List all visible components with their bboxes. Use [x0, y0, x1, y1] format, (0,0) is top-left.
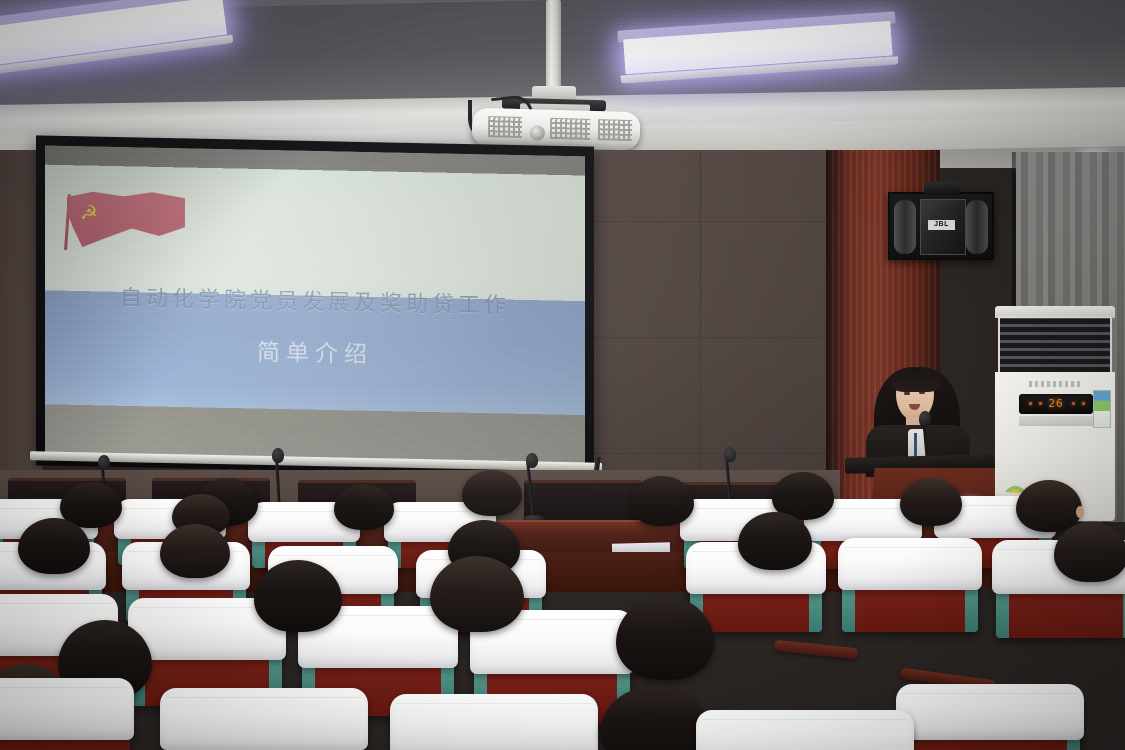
- ac-control-strip: [1019, 416, 1093, 426]
- mic-head: [272, 448, 284, 463]
- audience-ear: [1076, 506, 1084, 518]
- audience-head: [738, 512, 812, 570]
- auditorium-seat: [164, 694, 364, 750]
- ceiling-light-right: [623, 21, 893, 78]
- auditorium-seat: [700, 716, 910, 750]
- hammer-sickle-icon: ☭: [80, 202, 104, 224]
- seat-armrest: [774, 640, 859, 660]
- speaker-bracket: [924, 182, 960, 195]
- seat-cover: [838, 538, 982, 590]
- ac-indicator-dot: [1082, 402, 1085, 405]
- audience-head: [900, 478, 962, 526]
- auditorium-seat: [900, 690, 1080, 750]
- seat-cover: [0, 678, 134, 740]
- speaker-driver-right: [966, 200, 988, 254]
- cpc-party-flag-icon: ☭: [67, 190, 185, 250]
- table-microphone: [524, 456, 546, 518]
- ceiling-light-left: [0, 0, 228, 70]
- ac-indicator-dot: [1039, 402, 1042, 405]
- audience-head: [430, 556, 524, 632]
- audience-head: [630, 476, 694, 526]
- audience-head: [1016, 480, 1082, 532]
- ceiling-projector: [462, 0, 652, 160]
- auditorium-seat: [842, 544, 978, 632]
- jbl-logo: JBL: [928, 220, 955, 230]
- seat-cover: [160, 688, 368, 750]
- mic-stem: [526, 462, 535, 518]
- mic-head: [526, 453, 538, 468]
- energy-rating-sticker: [1093, 390, 1111, 428]
- seat-cover: [696, 710, 914, 750]
- ac-indicator-dot: [1072, 402, 1075, 405]
- projector-vent: [550, 118, 591, 140]
- projection-screen: ☭ 自动化学院党员发展及奖助贷工作 简单介绍: [36, 141, 594, 471]
- projector-mount-pole: [546, 0, 561, 92]
- projector-vent: [488, 116, 523, 138]
- auditorium-seat: [394, 700, 594, 750]
- ac-air-grille: [998, 316, 1112, 374]
- auditorium-photo: JBL ☭ 自动化学院党员发展及奖助贷工作 简单介绍: [0, 0, 1125, 750]
- seat-cover: [896, 684, 1084, 740]
- wall-speaker: JBL: [888, 192, 994, 260]
- audience-head: [254, 560, 342, 632]
- audience-head: [1054, 522, 1125, 582]
- projector-lens: [530, 125, 545, 140]
- mic-head: [98, 455, 110, 470]
- audience-head: [616, 596, 714, 680]
- audience-head: [334, 484, 394, 530]
- ac-brand-mark: [1029, 381, 1081, 387]
- ac-display-panel[interactable]: 26: [1019, 394, 1093, 414]
- speaker-driver-left: [894, 200, 916, 254]
- screen-surface: ☭ 自动化学院党员发展及奖助贷工作 简单介绍: [45, 146, 585, 465]
- podium-mic-head: [919, 411, 931, 427]
- audience-head: [462, 470, 522, 516]
- auditorium-seat: [0, 684, 130, 750]
- ac-indicator-dot: [1029, 402, 1032, 405]
- audience-head: [18, 518, 90, 574]
- seat-cover: [390, 694, 598, 750]
- mic-head: [724, 447, 736, 462]
- audience-head: [160, 524, 230, 578]
- presenter-eye: [904, 392, 910, 395]
- projector-vent: [598, 119, 633, 141]
